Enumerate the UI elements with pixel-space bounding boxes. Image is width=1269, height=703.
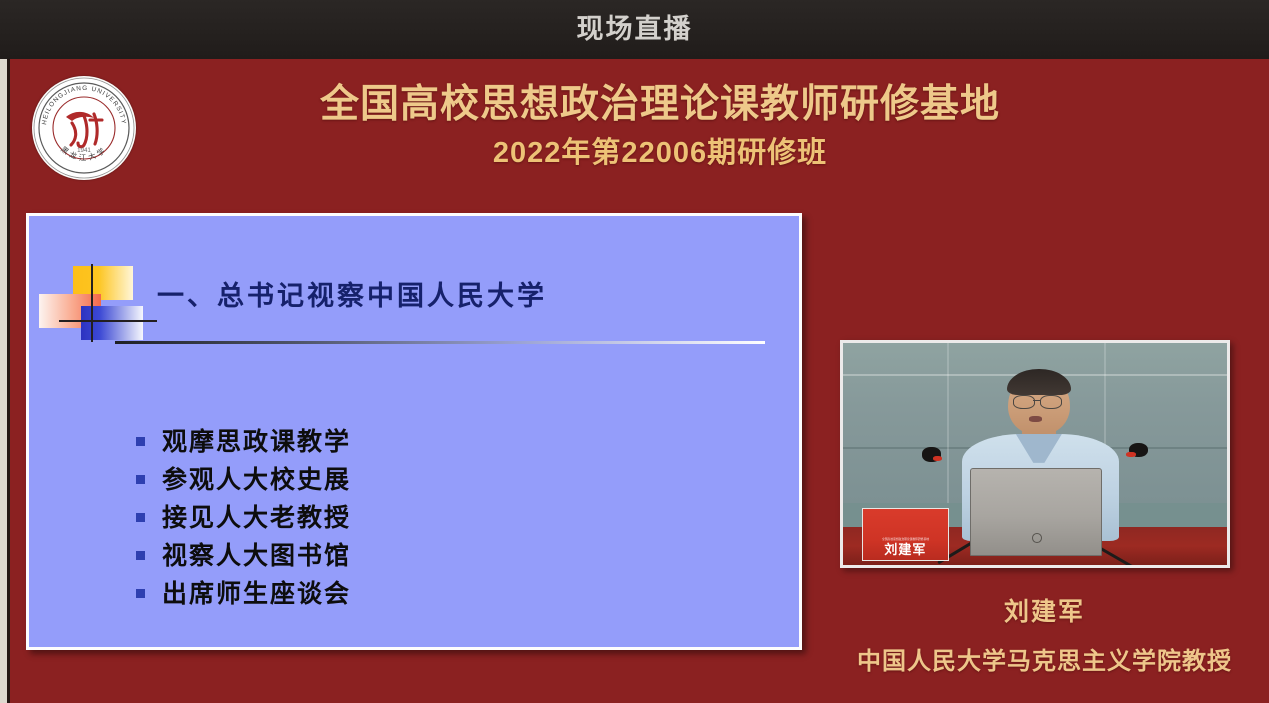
- list-item-label: 视察人大图书馆: [162, 543, 351, 568]
- presentation-slide: 一、总书记视察中国人民大学 观摩思政课教学 参观人大校史展 接见人大老教授: [26, 213, 802, 650]
- speaker-name-card: 全国高校思想政治理论课教师研修基地 刘建军: [862, 508, 948, 561]
- left-edge-strip: [0, 59, 7, 703]
- university-seal-logo: HEILONGJIANG UNIVERSITY 黑龙江大学 1941: [32, 76, 136, 180]
- bullet-square-icon: [136, 437, 145, 446]
- banner-title: 全国高校思想政治理论课教师研修基地: [150, 83, 1170, 128]
- list-item: 出席师生座谈会: [136, 574, 696, 612]
- university-seal-svg: HEILONGJIANG UNIVERSITY 黑龙江大学 1941: [32, 76, 136, 180]
- video-wall-column: [947, 343, 949, 503]
- bullet-square-icon: [136, 475, 145, 484]
- list-item-label: 出席师生座谈会: [162, 581, 351, 606]
- speaker-glasses-left-icon: [1013, 395, 1036, 409]
- banner-subtitle: 2022年第22006期研修班: [150, 137, 1170, 170]
- list-item: 视察人大图书馆: [136, 536, 696, 574]
- speaker-video-panel: 全国高校思想政治理论课教师研修基地 刘建军: [840, 340, 1230, 568]
- live-broadcast-label: 现场直播: [577, 16, 693, 43]
- bullet-square-icon: [136, 513, 145, 522]
- svg-text:1941: 1941: [77, 147, 91, 154]
- speaker-video-feed: 全国高校思想政治理论课教师研修基地 刘建军: [843, 343, 1227, 565]
- decoration-vertical-line: [91, 264, 93, 342]
- list-item: 参观人大校史展: [136, 460, 696, 498]
- list-item-label: 接见人大老教授: [162, 505, 351, 530]
- hp-logo-icon: [1032, 533, 1042, 543]
- presentation-stage: HEILONGJIANG UNIVERSITY 黑龙江大学 1941 全国高校思…: [0, 59, 1269, 703]
- speaker-role: 中国人民大学马克思主义学院教授: [820, 649, 1269, 675]
- speaker-mouth: [1029, 416, 1042, 421]
- speaker-caption: 刘建军 中国人民大学马克思主义学院教授: [820, 599, 1269, 675]
- live-stream-screen: 现场直播 HEILONGJIANG UNIVERSITY 黑龙江大学: [0, 0, 1269, 703]
- microphone-right-indicator: [1126, 452, 1135, 457]
- list-item-label: 观摩思政课教学: [162, 429, 351, 454]
- name-card-name: 刘建军: [884, 544, 926, 557]
- banner: 全国高校思想政治理论课教师研修基地 2022年第22006期研修班: [150, 83, 1170, 170]
- left-edge-divider: [7, 59, 10, 703]
- list-item-label: 参观人大校史展: [162, 467, 351, 492]
- slide-bullet-list: 观摩思政课教学 参观人大校史展 接见人大老教授 视察人大图书馆: [136, 422, 696, 612]
- speaker-name: 刘建军: [820, 599, 1269, 627]
- speaker-glasses-right-icon: [1040, 395, 1063, 409]
- decoration-horizontal-line: [59, 320, 157, 322]
- list-item: 观摩思政课教学: [136, 422, 696, 460]
- bullet-square-icon: [136, 589, 145, 598]
- bullet-square-icon: [136, 551, 145, 560]
- live-broadcast-bar: 现场直播: [0, 0, 1269, 59]
- slide-decoration-icon: [37, 264, 155, 342]
- name-card-heading: 全国高校思想政治理论课教师研修基地: [882, 538, 929, 542]
- slide-title-rule: [115, 341, 765, 344]
- slide-title: 一、总书记视察中国人民大学: [157, 274, 547, 313]
- laptop: [970, 468, 1103, 557]
- slide-canvas: 一、总书记视察中国人民大学 观摩思政课教学 参观人大校史展 接见人大老教授: [29, 216, 799, 647]
- speaker-glasses-bridge: [1033, 400, 1039, 401]
- list-item: 接见人大老教授: [136, 498, 696, 536]
